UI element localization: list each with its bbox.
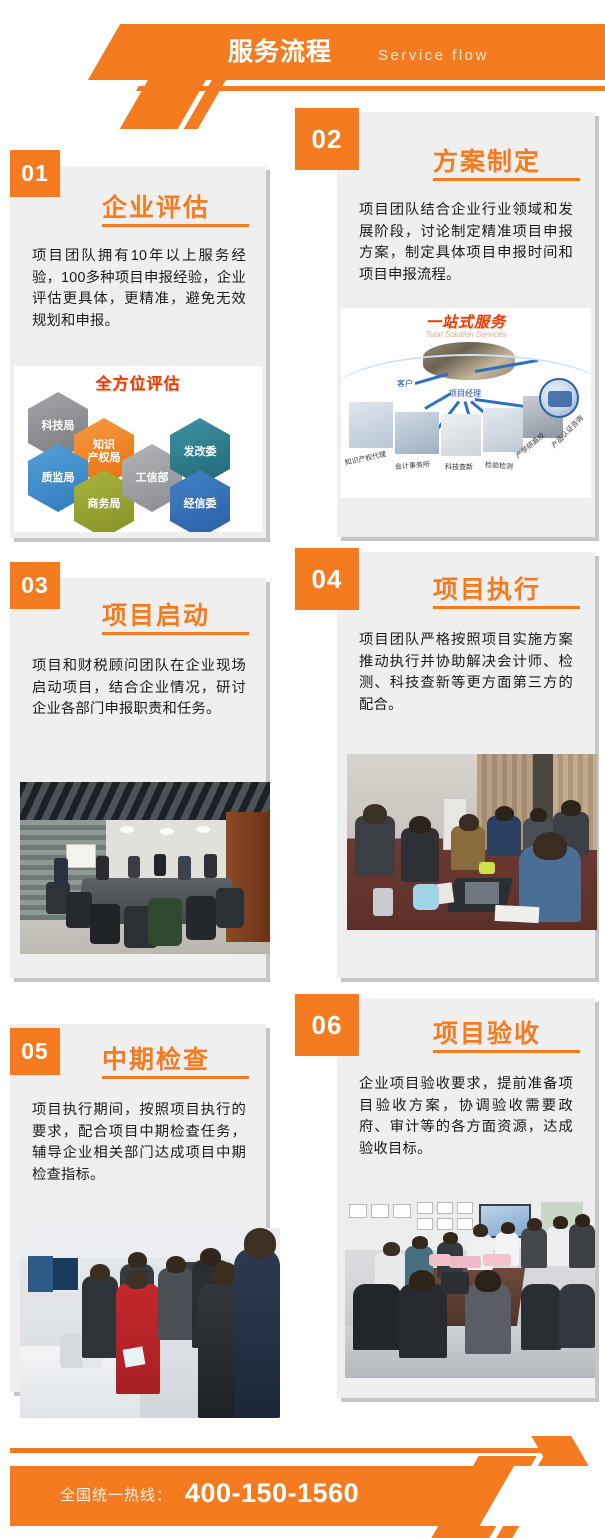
- card-05-body: 项目执行期间，按照项目执行的要求，配合项目中期检查任务，辅导企业相关部门达成项目…: [32, 1100, 246, 1187]
- header-divider-rule: [104, 86, 605, 91]
- process-card-06: 项目验收 企业项目验收要求，提前准备项目验收方案，协调验收需要政府、审计等的各方…: [337, 998, 595, 1398]
- card-02-body: 项目团队结合企业行业领域和发展阶段，讨论制定精准项目申报方案，制定具体项目申报时…: [359, 200, 573, 287]
- card-03-photo: [20, 782, 270, 954]
- card-06-photo: [345, 1198, 595, 1378]
- hexagon-node-label: 经信委: [184, 498, 217, 511]
- card-02-number-badge: 02: [295, 108, 359, 170]
- process-card-04: 项目执行 项目团队严格按照项目实施方案推动执行并协助解决会计师、检测、科技查新等…: [337, 552, 595, 978]
- one-stop-node-photo: [441, 414, 481, 456]
- card-01-title: 企业评估: [102, 188, 210, 224]
- hotline-number[interactable]: 400-150-1560: [185, 1476, 359, 1510]
- card-05-title-rule: [102, 1076, 249, 1079]
- process-card-02: 方案制定 项目团队结合企业行业领域和发展阶段，讨论制定精准项目申报方案，制定具体…: [337, 112, 595, 537]
- card-02-title: 方案制定: [433, 142, 541, 178]
- hexagon-node-label: 科技局: [42, 420, 75, 433]
- card-06-number-badge: 06: [295, 994, 359, 1056]
- card-05-photo: [20, 1228, 280, 1418]
- card-04-body: 项目团队严格按照项目实施方案推动执行并协助解决会计师、检测、科技查新等更方面第三…: [359, 630, 573, 717]
- one-stop-certification-seal-icon: [539, 378, 579, 418]
- hexagon-node-label: 工信部: [136, 472, 169, 485]
- card-06-body: 企业项目验收要求，提前准备项目验收方案，协调验收需要政府、审计等的各方面资源，达…: [359, 1074, 573, 1161]
- one-stop-subtitle: Total Solution Services: [425, 330, 506, 339]
- card-04-photo: [347, 754, 597, 930]
- one-stop-label-accounting-firm: 会计事务所: [395, 460, 431, 472]
- one-stop-label-inspection-testing: 检验检测: [485, 460, 514, 472]
- card-05-title: 中期检查: [102, 1040, 210, 1076]
- page-footer: 全国统一热线： 400-150-1560: [0, 1408, 605, 1538]
- card-06-title: 项目验收: [433, 1014, 541, 1050]
- card-05-number-badge: 05: [10, 1028, 60, 1075]
- hexagon-chart-title: 全方位评估: [95, 370, 180, 394]
- card-01-figure-hexagon-chart: 全方位评估 科技局 知识 产权局 质监局 商务局 工信部 发改委 经信委: [14, 366, 262, 532]
- process-card-05: 中期检查 项目执行期间，按照项目执行的要求，配合项目中期检查任务，辅导企业相关部…: [10, 1024, 266, 1392]
- process-card-01: 企业评估 项目团队拥有10年以上服务经验，100多种项目申报经验，企业评估更具体…: [10, 166, 266, 538]
- one-stop-node-photo: [483, 408, 523, 452]
- hexagon-node-label: 知识 产权局: [88, 439, 121, 464]
- card-04-title: 项目执行: [433, 570, 541, 606]
- page-subtitle: Service flow: [378, 42, 489, 70]
- card-04-title-rule: [433, 606, 580, 609]
- page-header: 服务流程 Service flow: [0, 0, 605, 110]
- one-stop-node-photo: [349, 402, 393, 448]
- card-02-title-rule: [433, 178, 580, 181]
- card-03-title-rule: [102, 632, 249, 635]
- card-02-figure-one-stop-service: 一站式服务 Total Solution Services 客户 项目经理 知识…: [341, 308, 591, 498]
- process-card-03: 项目启动 项目和财税顾问团队在企业现场启动项目，结合企业情况，研讨企业各部门申报…: [10, 578, 266, 978]
- card-03-title: 项目启动: [102, 596, 210, 632]
- card-06-title-rule: [433, 1050, 580, 1053]
- card-01-number-badge: 01: [10, 150, 60, 197]
- hexagon-node-label: 商务局: [88, 498, 121, 511]
- header-divider-notch: [90, 80, 143, 102]
- card-01-body: 项目团队拥有10年以上服务经验，100多种项目申报经验，企业评估更具体，更精准，…: [32, 246, 246, 333]
- one-stop-node-photo: [395, 412, 439, 454]
- card-04-number-badge: 04: [295, 548, 359, 610]
- card-03-body: 项目和财税顾问团队在企业现场启动项目，结合企业情况，研讨企业各部门申报职责和任务…: [32, 656, 246, 721]
- hexagon-node-label: 发改委: [184, 446, 217, 459]
- hotline-label: 全国统一热线：: [60, 1482, 172, 1510]
- card-03-number-badge: 03: [10, 562, 60, 609]
- footer-divider-rule: [10, 1448, 555, 1453]
- hexagon-node-label: 质监局: [42, 472, 75, 485]
- card-01-title-rule: [102, 224, 249, 227]
- one-stop-label-ip-agency: 知识产权代理: [344, 449, 387, 468]
- one-stop-label-tech-novelty-search: 科技查新: [445, 462, 473, 472]
- one-stop-title: 一站式服务: [426, 311, 506, 332]
- page-title: 服务流程: [228, 32, 332, 72]
